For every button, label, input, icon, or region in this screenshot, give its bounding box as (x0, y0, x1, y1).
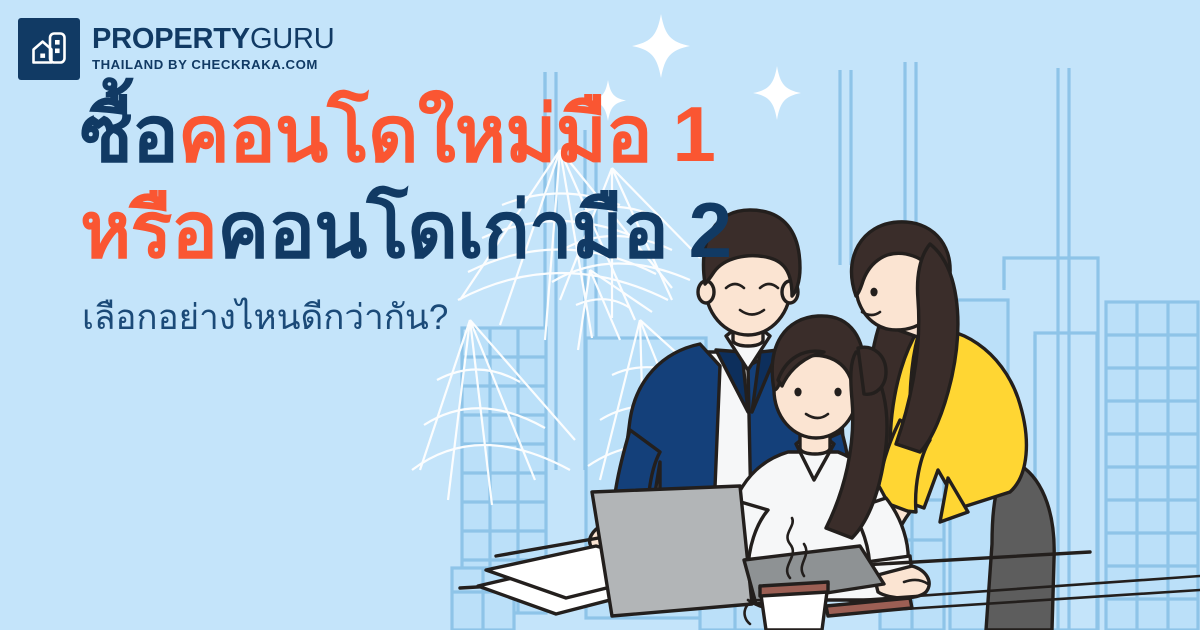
house-building-logo-icon (18, 18, 80, 80)
headline-line-2: หรือคอนโดเก่ามือ 2 (80, 182, 960, 278)
logo-wordmark-light: GURU (250, 23, 335, 55)
logo-tagline: THAILAND BY CHECKRAKA.COM (92, 58, 335, 71)
promo-banner: PROPERTYGURU THAILAND BY CHECKRAKA.COM ซ… (0, 0, 1200, 630)
headline-line-1: ซื้อคอนโดใหม่มือ 1 (80, 86, 960, 182)
logo-text-block: PROPERTYGURU THAILAND BY CHECKRAKA.COM (92, 25, 335, 73)
logo-wordmark: PROPERTYGURU (92, 25, 335, 55)
logo-wordmark-bold: PROPERTY (92, 23, 250, 55)
headline-block: ซื้อคอนโดใหม่มือ 1 หรือคอนโดเก่ามือ 2 (80, 86, 960, 278)
subtitle-text: เลือกอย่างไหนดีกว่ากัน? (82, 296, 448, 340)
headline-line2-navy: คอนโดเก่ามือ 2 (217, 186, 731, 274)
headline-line1-navy: ซื้อ (80, 90, 178, 178)
headline-line1-orange: คอนโดใหม่มือ 1 (178, 90, 715, 178)
brand-logo[interactable]: PROPERTYGURU THAILAND BY CHECKRAKA.COM (18, 18, 335, 80)
headline-line2-orange: หรือ (80, 186, 217, 274)
